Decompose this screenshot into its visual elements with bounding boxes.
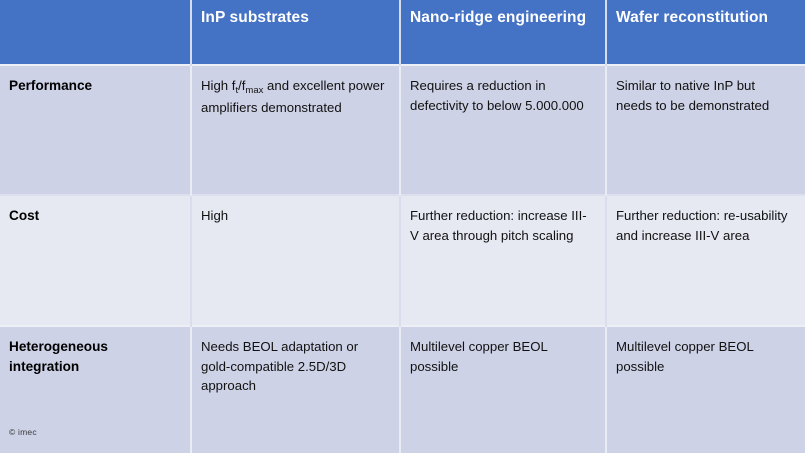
cell-subscript-max: max xyxy=(245,85,263,96)
footer-credit: © imec xyxy=(9,427,37,437)
column-header-inp-substrates: InP substrates xyxy=(191,0,400,65)
row-header-cost: Cost xyxy=(0,195,191,326)
table-header: InP substrates Nano-ridge engineering Wa… xyxy=(0,0,805,65)
cell-subscript-t: t xyxy=(235,85,238,96)
table-corner-cell xyxy=(0,0,191,65)
table-row: Performance High ft/fmax and excellent p… xyxy=(0,65,805,195)
cell-performance-inp-substrates: High ft/fmax and excellent power amplifi… xyxy=(191,65,400,195)
cell-text-pre: High f xyxy=(201,78,235,93)
technology-comparison-table: InP substrates Nano-ridge engineering Wa… xyxy=(0,0,805,453)
table-body: Performance High ft/fmax and excellent p… xyxy=(0,65,805,453)
column-header-wafer-reconstitution: Wafer reconstitution xyxy=(606,0,805,65)
slide-canvas: InP substrates Nano-ridge engineering Wa… xyxy=(0,0,805,453)
column-header-nano-ridge-engineering: Nano-ridge engineering xyxy=(400,0,606,65)
cell-performance-nano-ridge-engineering: Requires a reduction in defectivity to b… xyxy=(400,65,606,195)
cell-heterogeneous-integration-inp-substrates: Needs BEOL adaptation or gold-compatible… xyxy=(191,326,400,453)
cell-heterogeneous-integration-wafer-reconstitution: Multilevel copper BEOL possible xyxy=(606,326,805,453)
table-header-row: InP substrates Nano-ridge engineering Wa… xyxy=(0,0,805,65)
table-row: Heterogeneous integration Needs BEOL ada… xyxy=(0,326,805,453)
row-header-performance: Performance xyxy=(0,65,191,195)
cell-cost-wafer-reconstitution: Further reduction: re-usability and incr… xyxy=(606,195,805,326)
cell-performance-wafer-reconstitution: Similar to native InP but needs to be de… xyxy=(606,65,805,195)
table-row: Cost High Further reduction: increase II… xyxy=(0,195,805,326)
cell-cost-inp-substrates: High xyxy=(191,195,400,326)
cell-heterogeneous-integration-nano-ridge-engineering: Multilevel copper BEOL possible xyxy=(400,326,606,453)
cell-cost-nano-ridge-engineering: Further reduction: increase III-V area t… xyxy=(400,195,606,326)
